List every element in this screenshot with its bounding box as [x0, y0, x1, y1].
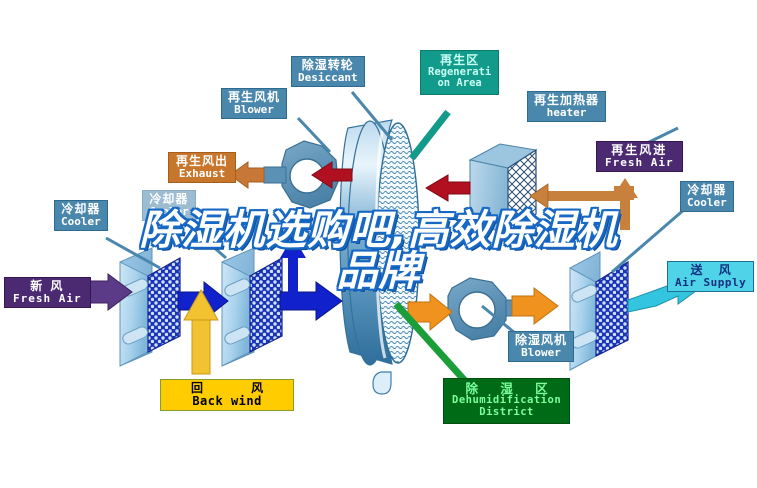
label-regeneration-heater-cn: 再生加热器: [534, 94, 599, 107]
label-back-wind-en: Back wind: [169, 395, 285, 408]
label-process-fresh-air-en: Fresh Air: [13, 293, 82, 305]
label-process-fresh-air-cn: 新 风: [13, 280, 82, 293]
label-regeneration-area[interactable]: 再生区 Regenerati on Area: [420, 50, 499, 95]
label-dehumidification-district-en2: District: [452, 407, 561, 419]
label-dehumidification-blower-en: Blower: [515, 347, 567, 359]
arrow-blower-to-coil: [512, 288, 558, 324]
label-dehumidification-blower-cn: 除湿风机: [515, 334, 567, 347]
label-cooler-right[interactable]: 冷却器 Cooler: [680, 181, 734, 212]
label-cooler-right-cn: 冷却器: [687, 184, 727, 197]
label-regeneration-blower-cn: 再生风机: [228, 91, 280, 104]
label-regeneration-fresh-air-en: Fresh Air: [605, 157, 674, 169]
schematic-drawing: [0, 0, 757, 488]
label-desiccant-rotor-en: Desiccant: [298, 72, 358, 84]
label-regeneration-heater[interactable]: 再生加热器 heater: [527, 91, 606, 122]
cooler-unit-left-2: [222, 248, 282, 366]
label-regeneration-heater-en: heater: [534, 107, 599, 119]
label-regeneration-exhaust-cn: 再生风出: [176, 155, 228, 168]
label-desiccant-rotor-cn: 除湿转轮: [298, 59, 358, 72]
label-regeneration-blower-en: Blower: [228, 104, 280, 116]
cooler-unit-right: [570, 252, 628, 370]
label-regeneration-area-cn: 再生区: [428, 54, 491, 67]
label-desiccant-rotor[interactable]: 除湿转轮 Desiccant: [291, 56, 365, 87]
diagram-canvas: 除湿转轮 Desiccant 再生风机 Blower 再生区 Regenerat…: [0, 0, 757, 488]
label-regeneration-blower[interactable]: 再生风机 Blower: [221, 88, 287, 119]
label-air-supply[interactable]: 送 风 Air Supply: [667, 261, 754, 292]
arrow-regen-fresh-in: [530, 178, 638, 230]
label-dehumidification-district[interactable]: 除 湿 区 Dehumidification District: [443, 378, 570, 424]
regeneration-heater: [470, 144, 536, 232]
label-cooler-left-2[interactable]: 冷却器 Cooler: [142, 190, 196, 221]
label-cooler-left-en: Cooler: [61, 216, 101, 228]
label-regeneration-fresh-air[interactable]: 再生风进 Fresh Air: [596, 141, 683, 172]
arrow-heater-to-rotor: [426, 175, 470, 201]
label-cooler-left[interactable]: 冷却器 Cooler: [54, 200, 108, 231]
label-air-supply-en: Air Supply: [675, 277, 746, 289]
label-regeneration-area-en2: on Area: [428, 78, 491, 90]
label-cooler-left-2-cn: 冷却器: [149, 193, 189, 206]
label-back-wind[interactable]: 回 风 Back wind: [160, 379, 294, 411]
label-air-supply-cn: 送 风: [675, 264, 746, 277]
label-cooler-left-cn: 冷却器: [61, 203, 101, 216]
cooler-unit-left-1: [120, 248, 180, 366]
label-back-wind-cn: 回 风: [169, 382, 285, 395]
label-dehumidification-blower[interactable]: 除湿风机 Blower: [508, 331, 574, 362]
label-cooler-left-2-en: Cooler: [149, 206, 189, 218]
label-cooler-right-en: Cooler: [687, 197, 727, 209]
label-regeneration-exhaust[interactable]: 再生风出 Exhaust: [168, 152, 236, 183]
label-process-fresh-air[interactable]: 新 风 Fresh Air: [4, 277, 91, 308]
label-regeneration-exhaust-en: Exhaust: [176, 168, 228, 180]
desiccant-rotor: [340, 120, 419, 394]
label-regeneration-fresh-air-cn: 再生风进: [605, 144, 674, 157]
